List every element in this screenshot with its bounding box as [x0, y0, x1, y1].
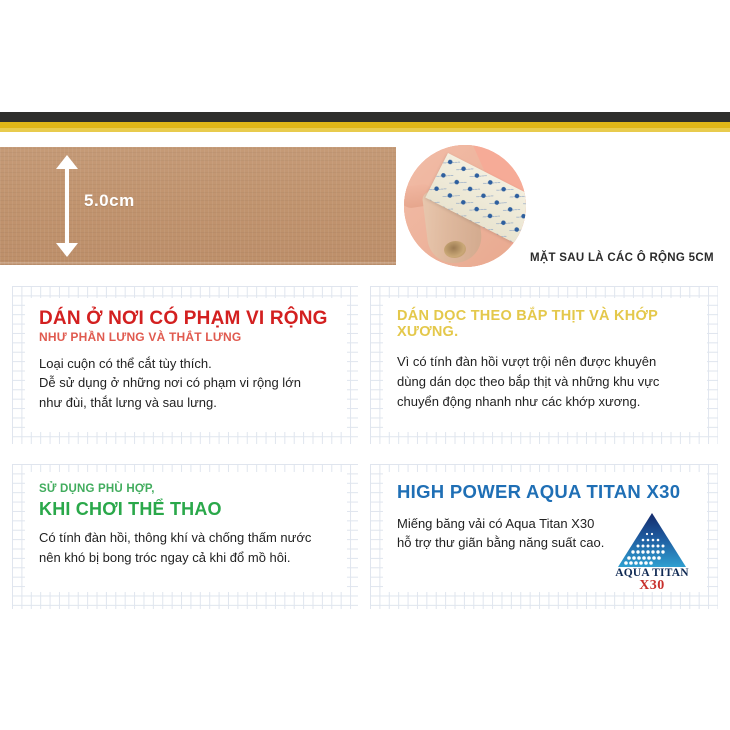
- hero-section: 5.0cm MẶT SAU LÀ CÁC Ô RỘNG 5CM: [0, 147, 730, 272]
- feature-card-3: SỬ DỤNG PHÙ HỢP, KHI CHƠI THỂ THAO Có tí…: [25, 472, 347, 592]
- card-1-body-line-1: Loại cuộn có thể cắt tùy thích.: [39, 356, 212, 371]
- card-2-title: DÁN DỌC THEO BẮP THỊT VÀ KHỚP XƯƠNG.: [397, 308, 695, 340]
- card-2-body-line-2: dùng dán dọc theo bắp thịt và những khu …: [397, 374, 659, 389]
- feature-card-2: DÁN DỌC THEO BẮP THỊT VÀ KHỚP XƯƠNG. Vì …: [383, 298, 707, 432]
- card-4-title: HIGH POWER AQUA TITAN X30: [397, 482, 695, 503]
- card-1-body-line-2: Dễ sử dụng ở những nơi có phạm vi rộng l…: [39, 375, 301, 390]
- dimension-arrow-icon: [56, 155, 78, 257]
- tape-roll-photo: [404, 145, 526, 267]
- roll-caption: MẶT SAU LÀ CÁC Ô RỘNG 5CM: [530, 252, 714, 264]
- aqua-titan-logo: AQUA TITAN X30: [613, 512, 691, 590]
- card-1-subtitle: NHƯ PHẦN LƯNG VÀ THẮT LƯNG: [39, 330, 335, 344]
- header-dark-bar: [0, 112, 730, 122]
- arrow-shaft: [65, 165, 69, 247]
- card-4-body-line-2: hỗ trợ thư giãn bằng năng suất cao.: [397, 535, 604, 550]
- card-2-body-line-3: chuyển động nhanh như các khớp xương.: [397, 394, 640, 409]
- arrow-down-head-icon: [56, 243, 78, 257]
- card-2-body-line-1: Vì có tính đàn hồi vượt trội nên được kh…: [397, 354, 656, 369]
- feature-card-4: HIGH POWER AQUA TITAN X30 Miếng băng vải…: [383, 472, 707, 592]
- card-1-title: DÁN Ở NƠI CÓ PHẠM VI RỘNG: [39, 308, 335, 329]
- card-4-body-line-1: Miếng băng vải có Aqua Titan X30: [397, 516, 594, 531]
- card-3-title: KHI CHƠI THỂ THAO: [39, 499, 335, 519]
- triangle-icon: [617, 512, 687, 568]
- card-1-body: Loại cuộn có thể cắt tùy thích. Dễ sử dụ…: [39, 354, 335, 413]
- dimension-label: 5.0cm: [84, 191, 135, 211]
- card-1-body-line-3: như đùi, thắt lưng và sau lưng.: [39, 395, 217, 410]
- card-3-body: Có tính đàn hồi, thông khí và chống thấm…: [39, 528, 335, 568]
- card-3-body-line-2: nên khó bị bong tróc ngay cả khi đổ mồ h…: [39, 550, 291, 565]
- logo-variant-text: X30: [613, 578, 691, 594]
- card-3-subtitle: SỬ DỤNG PHÙ HỢP,: [39, 483, 335, 497]
- card-3-body-line-1: Có tính đàn hồi, thông khí và chống thấm…: [39, 530, 311, 545]
- feature-card-1: DÁN Ở NƠI CÓ PHẠM VI RỘNG NHƯ PHẦN LƯNG …: [25, 298, 347, 432]
- infographic-root: 5.0cm MẶT SAU LÀ CÁC Ô RỘNG 5CM DÁN Ở NƠ…: [0, 0, 730, 730]
- card-2-body: Vì có tính đàn hồi vượt trội nên được kh…: [397, 352, 695, 411]
- header-gold-bar-light: [0, 128, 730, 132]
